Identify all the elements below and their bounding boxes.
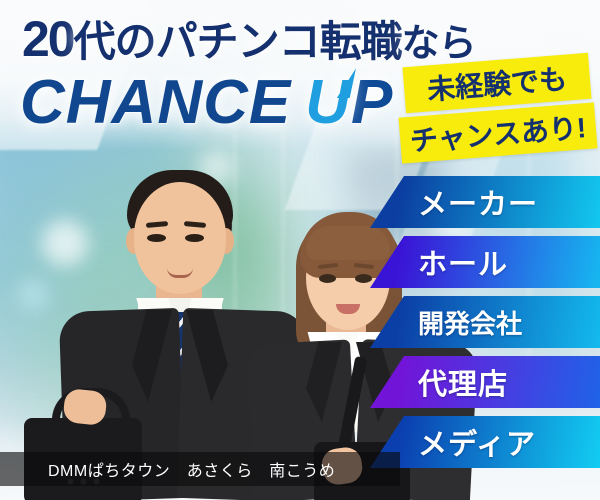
badge-label: 未経験でも — [426, 58, 569, 109]
logo-chance-up: CHANCEUP — [20, 72, 393, 134]
man-hand — [62, 388, 107, 426]
category-tag-label: メディア — [418, 421, 536, 463]
category-tag-label: ホール — [418, 241, 508, 283]
woman-eye-left — [319, 274, 336, 283]
headline: 20代のパチンコ転職なら — [22, 14, 476, 64]
category-tag-maker[interactable]: メーカー — [370, 176, 600, 228]
logo-word-up: UP — [305, 68, 393, 137]
logo-word-chance: CHANCE — [20, 68, 291, 137]
category-tag-label: 代理店 — [418, 361, 508, 403]
credit-text: DMMぱちタウン あさくら 南こうめ — [48, 457, 335, 481]
logo-letter-u-accent: U — [305, 72, 351, 134]
category-tag-media[interactable]: メディア — [370, 416, 600, 468]
category-tag-label: 開発会社 — [418, 304, 522, 341]
man-eye-left — [147, 234, 166, 242]
category-tag-label: メーカー — [418, 181, 538, 223]
category-tag-development-company[interactable]: 開発会社 — [370, 296, 600, 348]
credit-strip: DMMぱちタウン あさくら 南こうめ — [0, 452, 400, 486]
headline-age: 20 — [22, 11, 74, 67]
bokeh-light — [18, 280, 48, 310]
category-tag-hall[interactable]: ホール — [370, 236, 600, 288]
category-tag-list: メーカー ホール 開発会社 代理店 メディア — [370, 176, 600, 476]
recruitment-banner-ad[interactable]: 20代のパチンコ転職なら CHANCEUP 未経験でも チャンスあり! メーカー… — [0, 0, 600, 500]
man-eye-right — [185, 234, 204, 242]
headline-topic: パチンコ転職 — [156, 18, 402, 65]
category-tag-agency[interactable]: 代理店 — [370, 356, 600, 408]
headline-tail: なら — [402, 23, 476, 65]
headline-age-suffix: 代の — [74, 18, 156, 65]
logo-letter-p: P — [351, 68, 393, 137]
